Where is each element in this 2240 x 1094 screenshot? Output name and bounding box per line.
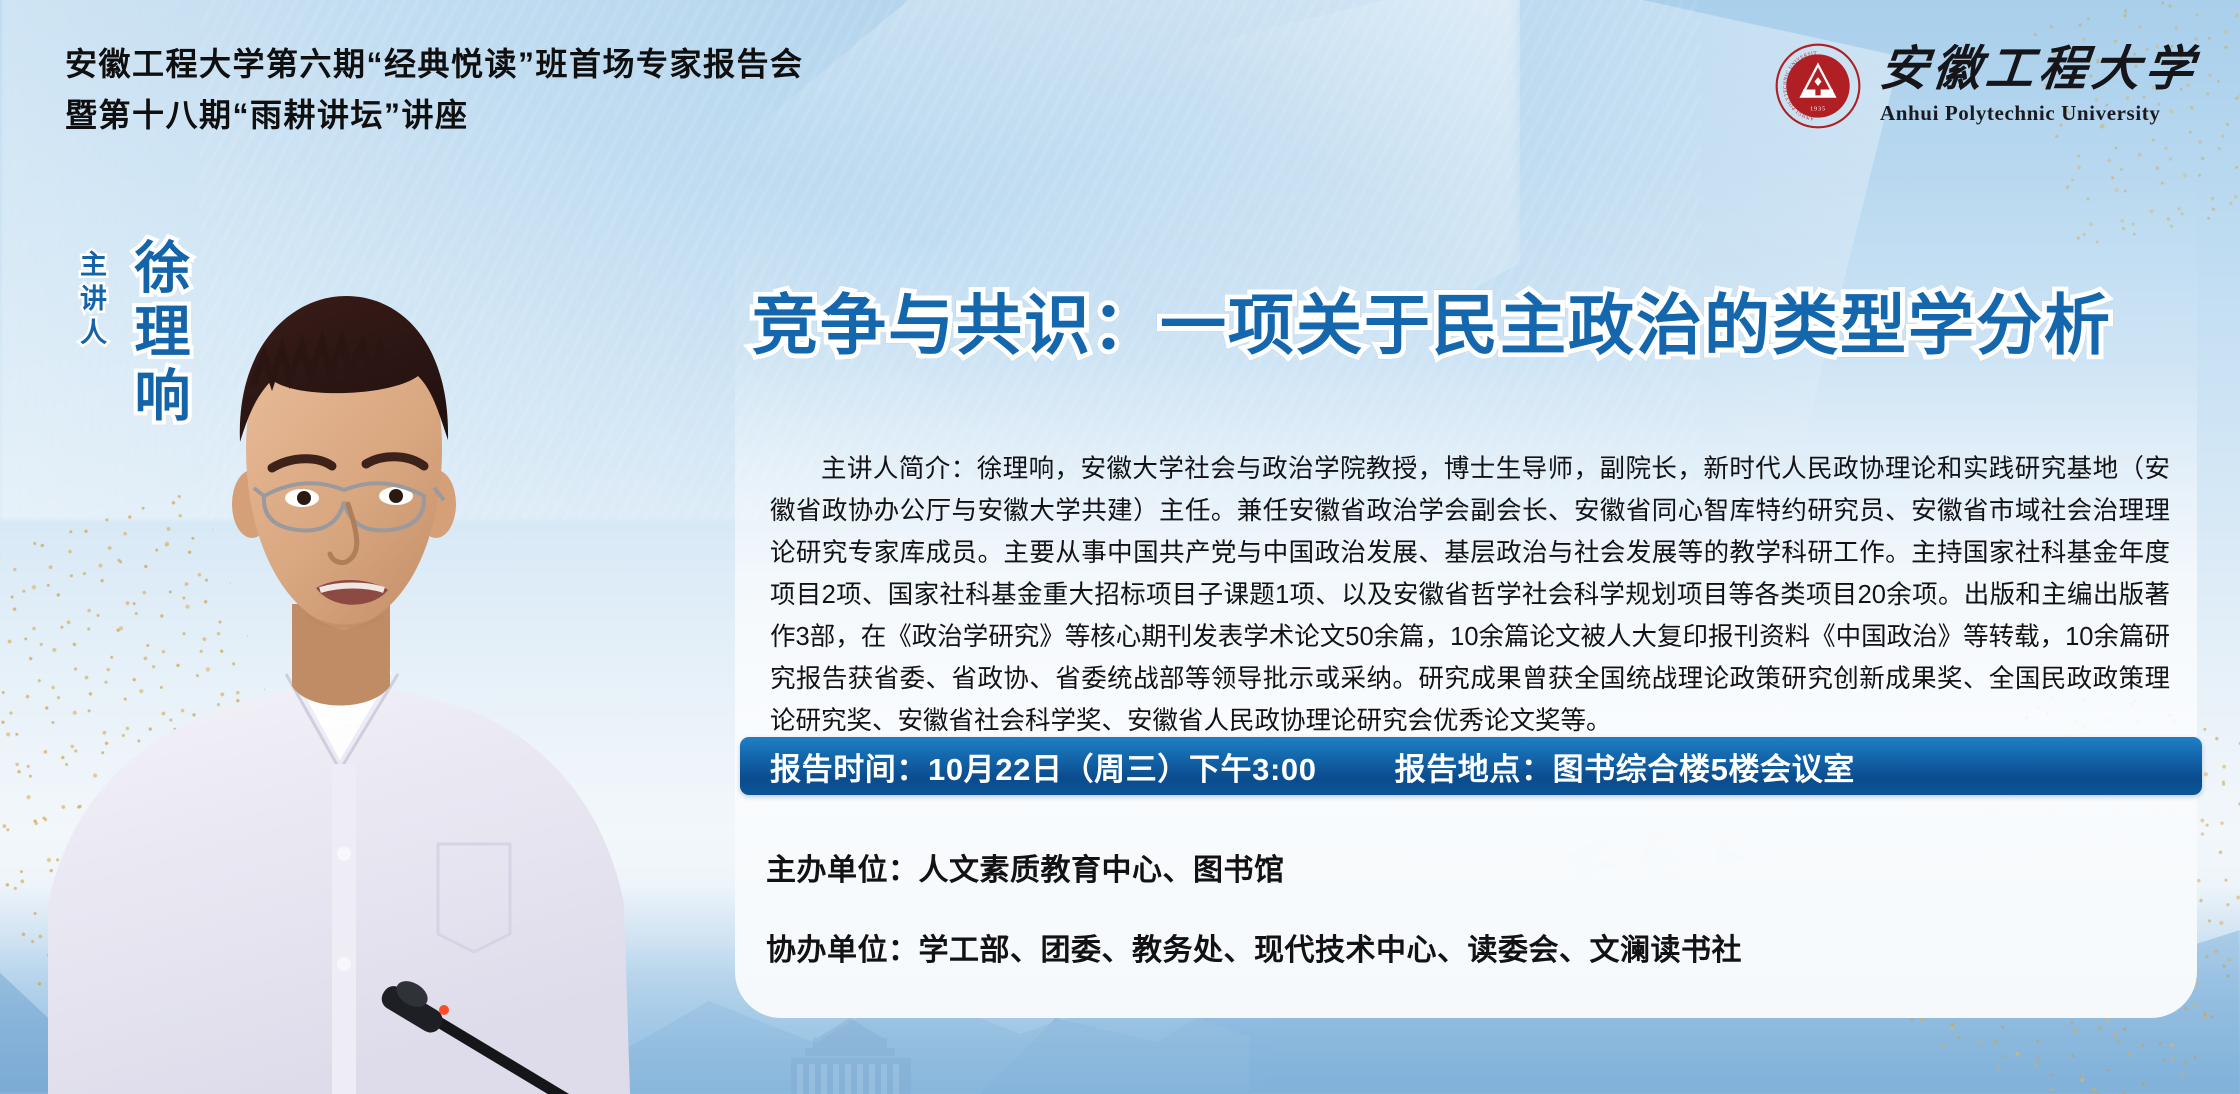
host-organizers: 主办单位：人文素质教育中心、图书馆 [766,845,1285,889]
bottom-mountain-left [0,864,400,1094]
speaker-biography: 主讲人简介：徐理响，安徽大学社会与政治学院教授，博士生导师，副院长，新时代人民政… [770,448,2170,742]
university-name-en: Anhui Polytechnic University [1880,101,2160,126]
header-line-2-wrapper: 暨第十八期“雨耕讲坛”讲座 [55,93,483,141]
event-header-line-1: 安徽工程大学第六期“经典悦读”班首场专家报告会 [55,42,818,90]
university-seal-icon: 1935 ANHUI POLYTECHNIC UNIVERSITY [1774,42,1862,130]
event-time: 报告时间：10月22日（周三）下午3:00 [740,744,1317,789]
svg-text:1935: 1935 [1810,107,1826,113]
event-location: 报告地点：图书综合楼5楼会议室 [1317,744,1855,789]
university-logo-text: 安徽工程大学 Anhui Polytechnic University [1880,46,2198,126]
event-header-line-2: 暨第十八期“雨耕讲坛”讲座 [55,93,483,141]
speaker-name-label: 徐理响 [118,238,199,430]
co-organizers: 协办单位：学工部、团委、教务处、现代技术中心、读委会、文澜读书社 [766,925,1742,969]
university-name-cn: 安徽工程大学 [1877,46,2200,94]
event-poster: 安徽工程大学第六期“经典悦读”班首场专家报告会 暨第十八期“雨耕讲坛”讲座 19… [0,0,2240,1094]
header-line-1-wrapper: 安徽工程大学第六期“经典悦读”班首场专家报告会 [55,42,818,90]
university-logo: 1935 ANHUI POLYTECHNIC UNIVERSITY 安徽工程大学… [1774,42,2198,130]
lecture-main-title: 竞争与共识：一项关于民主政治的类型学分析 [752,272,2222,368]
gold-sparkle-left [0,484,347,1036]
speaker-role-label: 主讲人 [72,250,111,352]
event-info-bar: 报告时间：10月22日（周三）下午3:00 报告地点：图书综合楼5楼会议室 [740,737,2202,795]
microphone [378,976,654,1094]
